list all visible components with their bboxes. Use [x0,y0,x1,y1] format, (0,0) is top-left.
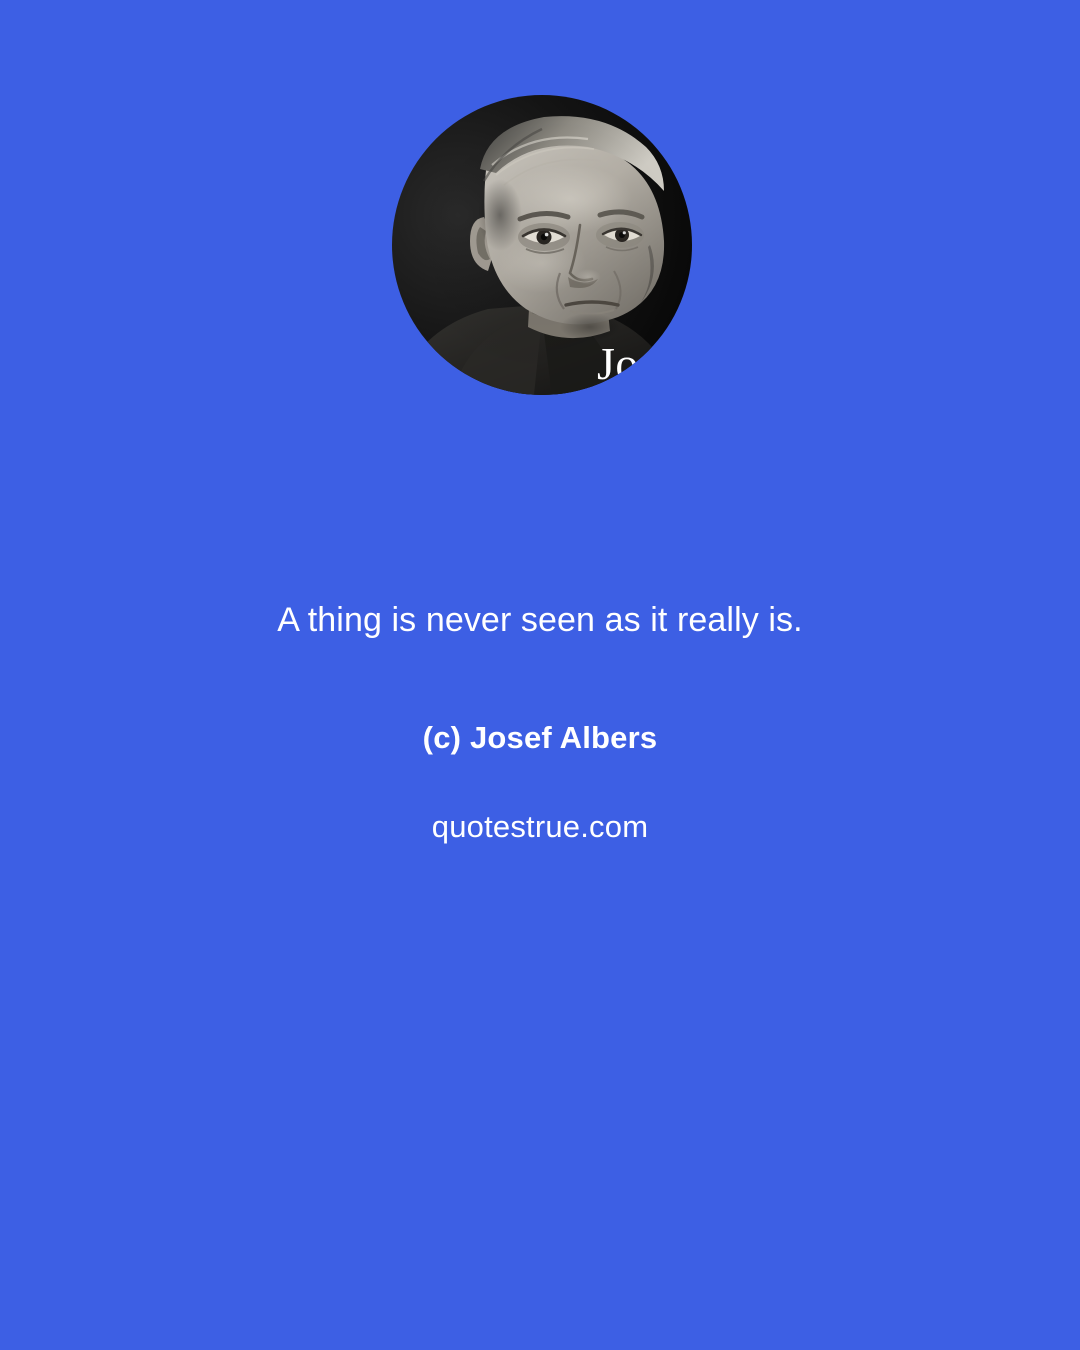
portrait-photo-image [392,95,692,395]
quote-card: Jo A thing is never seen as it really is… [0,0,1080,1350]
portrait-avatar: Jo [392,95,692,395]
quote-text: A thing is never seen as it really is. [160,575,920,665]
quote-attribution: (c) Josef Albers [0,665,1080,753]
quote-text-block: A thing is never seen as it really is. (… [0,575,1080,842]
source-website: quotestrue.com [0,753,1080,842]
